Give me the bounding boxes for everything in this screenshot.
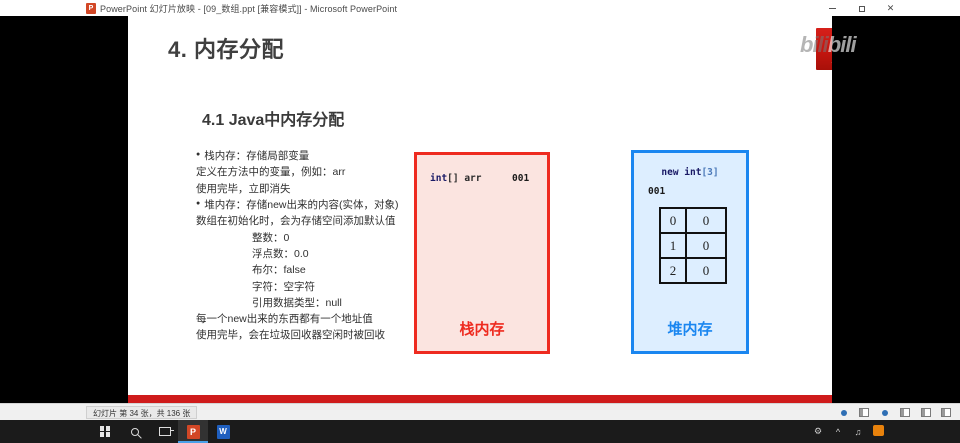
array-index-cell: 2 <box>660 258 686 283</box>
body-line: 使用完毕，立即消失 <box>196 181 431 197</box>
stack-memory-box: int[] arr 001 栈内存 <box>414 152 550 354</box>
array-index-cell: 0 <box>660 208 686 233</box>
page-title: 4. 内存分配 <box>168 32 284 64</box>
zoom-in-icon[interactable] <box>879 406 891 419</box>
heap-code-index: [3] <box>701 167 718 178</box>
stack-code-line: int[] arr <box>430 173 482 184</box>
heap-memory-box: new int[3] 001 001020 堆内存 <box>631 150 749 354</box>
task-view-icon <box>159 427 171 436</box>
body-line: 堆内存：存储new出来的内容(实体，对象) <box>196 197 431 213</box>
view-sorter-icon[interactable] <box>920 406 932 419</box>
stack-box-label: 栈内存 <box>417 318 547 339</box>
itheima-tagline: 传智播客旗下高端IT教育品牌 <box>816 59 832 67</box>
body-line: 浮点数：0.0 <box>196 246 431 262</box>
heap-box-label: 堆内存 <box>634 318 746 339</box>
heap-code-line: new int[3] <box>634 167 746 178</box>
heap-code-new: new int <box>661 167 701 178</box>
slide-counter: 幻灯片 第 34 张，共 136 张 <box>86 406 197 419</box>
network-icon[interactable]: ⚙ <box>808 426 828 437</box>
body-line: 整数：0 <box>196 230 431 246</box>
body-line: 引用数据类型：null <box>196 295 431 311</box>
fit-slide-icon[interactable] <box>858 406 870 419</box>
body-line: 定义在方法中的变量，例如：arr <box>196 164 431 180</box>
task-view-button[interactable] <box>150 420 180 443</box>
stack-address-value: 001 <box>512 173 529 184</box>
array-value-cell: 0 <box>686 233 726 258</box>
system-tray[interactable]: ⚙ ^ ♫ <box>808 420 888 443</box>
body-line: 布尔：false <box>196 262 431 278</box>
bilibili-watermark: bilibili <box>800 32 856 58</box>
slide-body-text: 栈内存：存储局部变量定义在方法中的变量，例如：arr使用完毕，立即消失堆内存：存… <box>196 148 431 344</box>
tray-app-icon[interactable] <box>868 425 888 438</box>
slide-canvas[interactable]: 4. 内存分配 4.1 Java中内存分配 栈内存：存储局部变量定义在方法中的变… <box>128 16 832 404</box>
slideshow-stage[interactable]: 4. 内存分配 4.1 Java中内存分配 栈内存：存储局部变量定义在方法中的变… <box>0 16 960 420</box>
show-hidden-icons-chevron-icon[interactable]: ^ <box>828 427 848 437</box>
view-reading-icon[interactable] <box>940 406 952 419</box>
window-title-bar: P PowerPoint 幻灯片放映 - [09_数组.ppt [兼容模式]] … <box>0 0 960 16</box>
body-line: 数组在初始化时，会为存储空间添加默认值 <box>196 213 431 229</box>
powerpoint-icon: P <box>187 425 200 439</box>
array-value-cell: 0 <box>686 258 726 283</box>
taskbar-search-button[interactable] <box>120 420 150 443</box>
table-row: 20 <box>660 258 726 283</box>
taskbar-item-powerpoint[interactable]: P <box>178 420 208 443</box>
start-button[interactable] <box>90 420 120 443</box>
array-value-cell: 0 <box>686 208 726 233</box>
stack-code-rest: [] arr <box>447 173 481 184</box>
table-row: 10 <box>660 233 726 258</box>
minimize-button[interactable] <box>818 0 847 16</box>
zoom-out-icon[interactable] <box>838 406 850 419</box>
zoom-controls[interactable] <box>834 406 952 419</box>
window-title: PowerPoint 幻灯片放映 - [09_数组.ppt [兼容模式]] - … <box>100 2 397 15</box>
search-icon <box>131 428 139 436</box>
body-line: 栈内存：存储局部变量 <box>196 148 431 164</box>
view-normal-icon[interactable] <box>899 406 911 419</box>
heap-array-table: 001020 <box>659 207 727 284</box>
taskbar-item-other-app[interactable]: W <box>208 420 238 443</box>
stack-code-keyword: int <box>430 173 447 184</box>
status-bar: 幻灯片 第 34 张，共 136 张 <box>0 403 960 420</box>
array-index-cell: 1 <box>660 233 686 258</box>
powerpoint-app-icon: P <box>86 3 96 14</box>
close-button[interactable]: ✕ <box>876 0 905 16</box>
windows-logo-icon <box>100 426 111 437</box>
table-row: 00 <box>660 208 726 233</box>
heap-address-value: 001 <box>648 186 665 197</box>
body-line: 使用完毕，会在垃圾回收器空闲时被回收 <box>196 327 431 343</box>
body-line: 字符：空字符 <box>196 279 431 295</box>
section-subtitle: 4.1 Java中内存分配 <box>202 106 344 130</box>
body-line: 每一个new出来的东西都有一个地址值 <box>196 311 431 327</box>
windows-taskbar: P W ⚙ ^ ♫ <box>0 420 960 443</box>
screen: P PowerPoint 幻灯片放映 - [09_数组.ppt [兼容模式]] … <box>0 0 960 443</box>
word-icon: W <box>217 425 230 439</box>
volume-icon[interactable]: ♫ <box>848 427 868 437</box>
maximize-button[interactable] <box>847 0 876 16</box>
